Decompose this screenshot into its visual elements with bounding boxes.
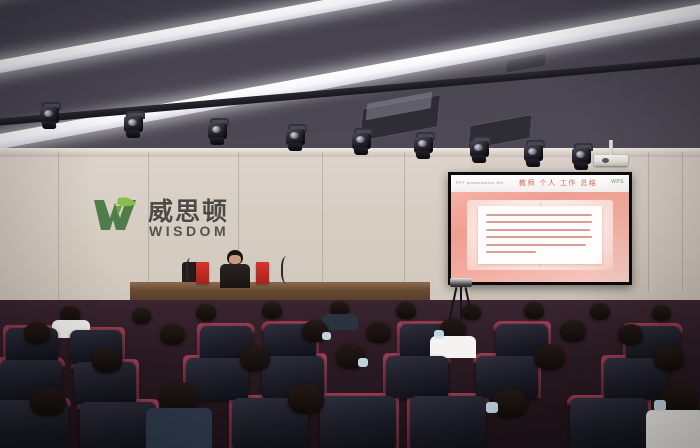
screen-surface: PPT presentation file 教师 个人 工作 总结 WPS [451,175,629,282]
attendee-head [262,302,282,319]
auditorium-seat[interactable] [80,402,156,448]
auditorium-seat[interactable] [386,356,448,398]
face-mask [434,330,444,339]
wall-seam [58,152,59,302]
video-camera-on-tripod [448,278,474,320]
microphone-icon [186,258,197,282]
attendee-head [30,386,66,416]
company-logo: 威思顿 WISDOM [92,192,237,250]
face-mask [322,332,331,340]
seated-speaker [218,250,252,288]
red-booklet [196,262,209,284]
wall-seam [682,152,683,292]
stage-spotlight-icon [572,143,591,170]
attendee-head [534,344,565,370]
presidium-table-top [130,282,430,289]
stage-spotlight-icon [40,102,59,129]
audience-area [0,300,700,448]
auditorium-photo: 威思顿 WISDOM PPT presentation file 教师 个人 工… [0,0,700,448]
slide-body [451,192,629,282]
attendee-head [288,384,324,414]
slide-text-line [486,244,586,246]
face-mask [358,358,368,367]
attendee-shirt [430,336,476,358]
attendee-head [618,324,643,345]
stage-spotlight-icon [208,118,227,145]
attendee-head [366,322,391,343]
face-mask [654,400,666,411]
slide-text-card [478,206,603,264]
projection-screen: PPT presentation file 教师 个人 工作 总结 WPS [448,172,632,285]
attendee-head [654,346,684,371]
auditorium-seat[interactable] [410,396,486,448]
slide-text-line [486,214,592,216]
slide-text-line [486,236,592,238]
wall-seam [322,152,323,302]
face-mask [486,402,498,413]
attendee-shirt [146,408,212,448]
attendee-head [524,302,544,319]
stage-spotlight-icon [352,128,371,155]
stage-spotlight-icon [286,124,305,151]
attendee-head [652,305,671,321]
attendee-head [396,302,416,319]
wall-seam [404,152,405,302]
slide-text-line [486,251,536,253]
slide-toolbar-left: PPT presentation file [456,180,504,185]
slide-text-line [486,221,592,223]
stage-spotlight-icon [470,136,489,163]
attendee-head [92,348,122,373]
slide-toolbar-title: 教师 个人 工作 总结 [519,178,597,188]
attendee-head [196,304,216,321]
microphone-icon [281,256,295,284]
slide-text-line [486,229,589,231]
stage-spotlight-icon [124,111,143,138]
stage-spotlight-icon [524,140,543,167]
attendee-head [132,308,151,324]
attendee-head [240,346,270,371]
auditorium-seat[interactable] [570,398,648,448]
slide-toolbar-right: WPS [611,179,624,185]
wall-seam [648,152,649,292]
logo-text-en: WISDOM [149,223,229,239]
video-camera-icon [450,278,472,287]
slide-toolbar: PPT presentation file 教师 个人 工作 总结 WPS [451,175,629,193]
stage-spotlight-icon [414,132,433,159]
red-booklet [256,262,269,284]
attendee-head [24,322,50,344]
attendee-shirt [646,410,700,448]
wisdom-leaf-mark-icon [92,194,140,234]
projector-icon [594,140,628,170]
attendee-head [560,320,586,342]
attendee-head [590,303,610,320]
auditorium-seat[interactable] [320,396,396,448]
attendee-head [160,324,185,345]
